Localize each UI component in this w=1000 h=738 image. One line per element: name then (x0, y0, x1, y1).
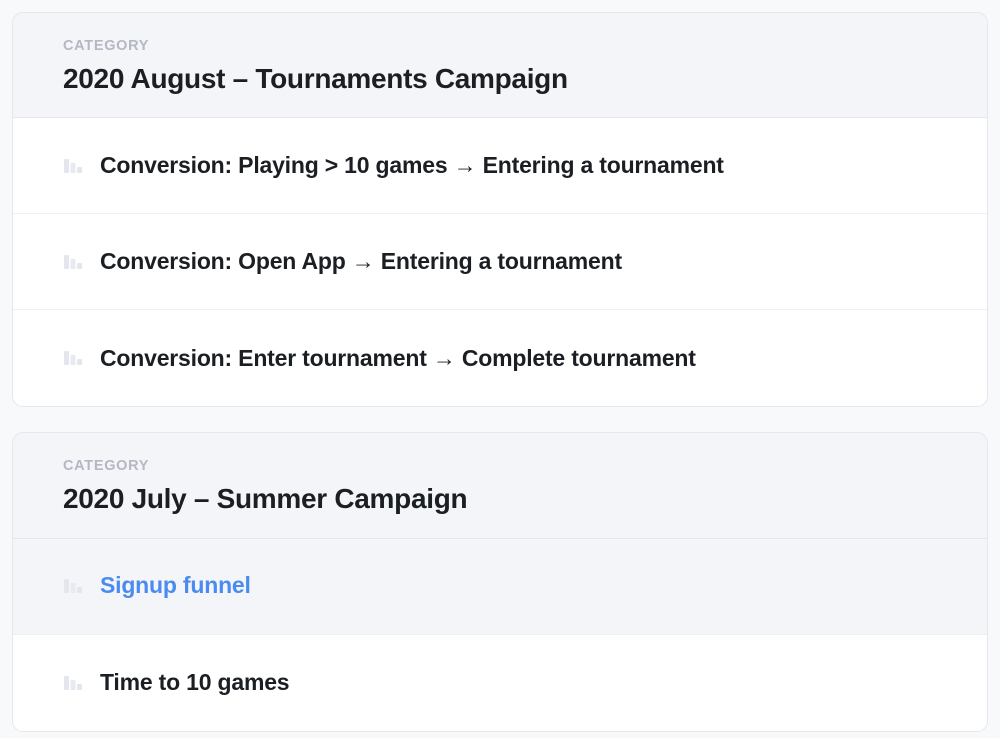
category-eyebrow-label: CATEGORY (63, 39, 937, 55)
category-card-header: CATEGORY 2020 July – Summer Campaign (13, 433, 987, 538)
list-item-selected[interactable]: Signup funnel (13, 539, 987, 635)
category-title: 2020 July – Summer Campaign (63, 481, 937, 517)
bar-chart-icon (63, 252, 83, 272)
category-eyebrow-label: CATEGORY (63, 459, 937, 475)
list-item-label: Signup funnel (100, 572, 251, 600)
bar-chart-icon (63, 673, 83, 693)
list-item[interactable]: Time to 10 games (13, 635, 987, 731)
category-card-header: CATEGORY 2020 August – Tournaments Campa… (13, 13, 987, 118)
list-item-label: Conversion: Open App → Entering a tourna… (100, 248, 622, 276)
category-title: 2020 August – Tournaments Campaign (63, 61, 937, 97)
bar-chart-icon (63, 348, 83, 368)
list-item[interactable]: Conversion: Enter tournament → Complete … (13, 310, 987, 406)
category-card: CATEGORY 2020 July – Summer Campaign Sig… (12, 432, 988, 731)
category-card: CATEGORY 2020 August – Tournaments Campa… (12, 12, 988, 407)
list-item-label: Conversion: Enter tournament → Complete … (100, 345, 696, 373)
list-item-label: Conversion: Playing > 10 games → Enterin… (100, 152, 724, 180)
list-item-label: Time to 10 games (100, 669, 289, 697)
bar-chart-icon (63, 156, 83, 176)
list-item[interactable]: Conversion: Open App → Entering a tourna… (13, 214, 987, 310)
insights-list-page: CATEGORY 2020 August – Tournaments Campa… (0, 0, 1000, 738)
bar-chart-icon (63, 576, 83, 596)
list-item[interactable]: Conversion: Playing > 10 games → Enterin… (13, 118, 987, 214)
